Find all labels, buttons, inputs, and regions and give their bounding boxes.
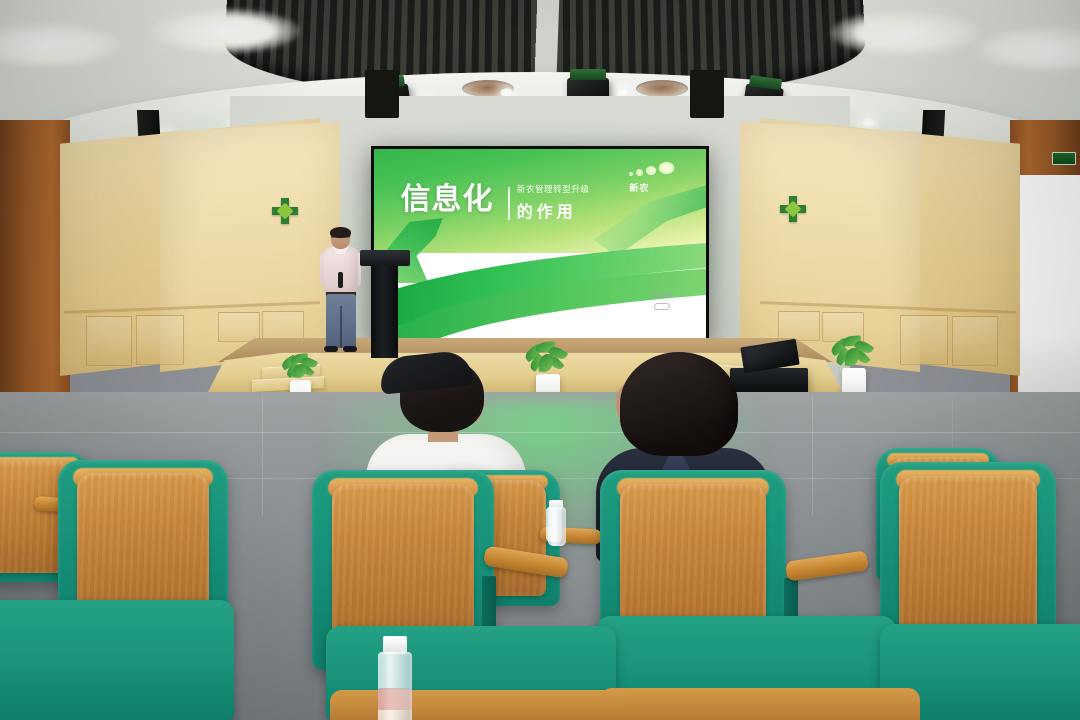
- presenter-leg-split: [340, 306, 342, 348]
- floor-seam-v2: [812, 396, 813, 516]
- audience-woman-hair: [620, 352, 738, 456]
- seat-cushion-front-1[interactable]: [0, 600, 234, 720]
- wainscot-panel-r4: [952, 316, 998, 366]
- cove-light-left-2: [150, 8, 300, 54]
- conference-hall-photo: 信息化 新农管理转型升级 的作用 新农 方超军: [0, 0, 1080, 720]
- right-doorway: [1018, 175, 1080, 405]
- microphone: [338, 272, 343, 288]
- ceiling-drop-left: [365, 70, 399, 118]
- left-wood-pillar: [0, 120, 70, 420]
- slide-logo-text: 新农: [629, 181, 649, 194]
- slide-title-divider: [508, 187, 510, 220]
- slide-subtitle-large: 的作用: [517, 198, 577, 222]
- cove-light-right-2: [830, 10, 980, 56]
- wainscot-panel-l4: [262, 311, 304, 341]
- floor-seam-1: [0, 432, 1080, 433]
- slide-title: 信息化: [401, 185, 494, 215]
- presenter-shoe-left: [324, 346, 338, 352]
- wainscot-panel-l2: [136, 315, 184, 365]
- wainscot-panel-r3: [900, 315, 948, 365]
- led-screen: 信息化 新农管理转型升级 的作用 新农 方超军: [374, 149, 706, 341]
- wainscot-panel-r1: [778, 311, 820, 341]
- ceiling-drop-right: [690, 70, 724, 118]
- slide-presenter-rule: [654, 303, 670, 310]
- seat-wood-edge-front-2: [330, 690, 630, 720]
- wainscot-panel-l1: [86, 316, 132, 366]
- slide-presenter-credit: 方超军: [651, 291, 673, 310]
- wainscot-panel-l3: [218, 312, 260, 342]
- presenter-person: [318, 228, 364, 356]
- ceiling-vent-3: [636, 80, 688, 97]
- slide-presenter-name: 方超军: [651, 292, 673, 299]
- downlight-9: [862, 118, 875, 127]
- presenter-shoe-right: [343, 346, 357, 352]
- water-bottle-between-seats[interactable]: [548, 500, 566, 546]
- podium-body: [371, 265, 398, 358]
- exit-sign: [1052, 152, 1076, 165]
- podium-top: [360, 250, 410, 266]
- presenter-hair: [330, 227, 351, 238]
- floor-seam-v1: [262, 396, 263, 516]
- seat-wood-edge-front-3: [600, 688, 920, 720]
- wall-cross-ornament-left: [272, 198, 298, 224]
- podium: [360, 250, 410, 358]
- led-screen-frame: 信息化 新农管理转型升级 的作用 新农 方超军: [371, 146, 709, 344]
- wall-cross-ornament-right: [780, 196, 806, 222]
- slide-subtitle-small: 新农管理转型升级: [517, 183, 590, 195]
- water-bottle-foreground[interactable]: [378, 636, 412, 720]
- slide-brand-logo: 新农: [627, 161, 689, 195]
